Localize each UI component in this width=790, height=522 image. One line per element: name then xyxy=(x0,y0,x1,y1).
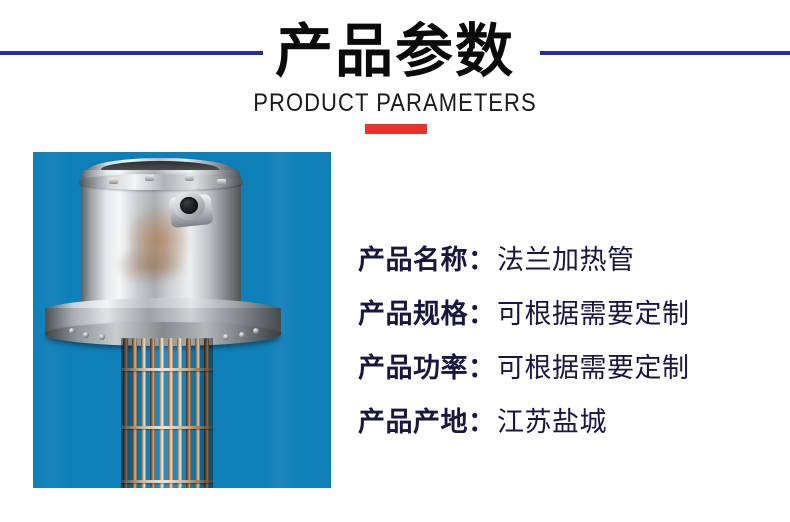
spec-separator: ： xyxy=(468,353,497,384)
heating-tube xyxy=(132,338,137,488)
shell-reflection-b xyxy=(103,238,199,294)
page-header: 产品参数 PRODUCT PARAMETERS xyxy=(0,0,790,140)
page-subtitle: PRODUCT PARAMETERS xyxy=(47,90,742,117)
collar-nub xyxy=(217,179,226,185)
heating-tube-bundle xyxy=(121,338,213,488)
tube-support-ring xyxy=(121,426,213,429)
heating-tube xyxy=(177,338,182,488)
spec-separator: ： xyxy=(468,245,497,276)
spec-row: 产品功率：可根据需要定制 xyxy=(358,342,758,396)
product-spec-list: 产品名称：法兰加热管 产品规格：可根据需要定制 产品功率：可根据需要定制 产品产… xyxy=(358,234,758,450)
spec-value: 法兰加热管 xyxy=(497,245,635,276)
flange-heater-assembly xyxy=(33,152,331,488)
heating-tube xyxy=(204,338,209,488)
heating-tube xyxy=(186,338,191,488)
collar-nub xyxy=(145,175,154,181)
accent-bar xyxy=(365,124,427,134)
spec-label: 产品规格 xyxy=(358,299,468,330)
spec-separator: ： xyxy=(468,299,497,330)
spec-label: 产品产地 xyxy=(358,407,468,438)
flange-bolt-hole xyxy=(253,328,259,334)
tube-support-ring xyxy=(121,480,213,483)
collar-nub xyxy=(109,178,118,184)
heating-tube xyxy=(159,338,164,488)
flange-bolt-hole xyxy=(99,334,105,340)
spec-label: 产品名称 xyxy=(358,245,468,276)
tube-support-ring xyxy=(121,368,213,371)
flange-bolt-hole xyxy=(239,332,245,338)
page-title: 产品参数 xyxy=(0,14,790,88)
flange-bolt-hole xyxy=(83,332,89,338)
heating-tube xyxy=(141,338,146,488)
heating-tube xyxy=(150,338,155,488)
spec-row: 产品产地：江苏盐城 xyxy=(358,396,758,450)
side-port-opening xyxy=(180,197,198,214)
spec-separator: ： xyxy=(468,407,497,438)
heating-tube xyxy=(195,338,200,488)
product-photo xyxy=(33,152,331,488)
spec-value: 可根据需要定制 xyxy=(497,353,690,384)
heating-tube xyxy=(168,338,173,488)
spec-row: 产品规格：可根据需要定制 xyxy=(358,288,758,342)
spec-value: 江苏盐城 xyxy=(497,407,607,438)
spec-value: 可根据需要定制 xyxy=(497,299,690,330)
spec-label: 产品功率 xyxy=(358,353,468,384)
flange-bolt-hole xyxy=(223,334,229,340)
spec-row: 产品名称：法兰加热管 xyxy=(358,234,758,288)
heating-tube xyxy=(123,338,128,488)
collar-nub xyxy=(185,175,194,181)
flange-bolt-hole xyxy=(69,328,75,334)
